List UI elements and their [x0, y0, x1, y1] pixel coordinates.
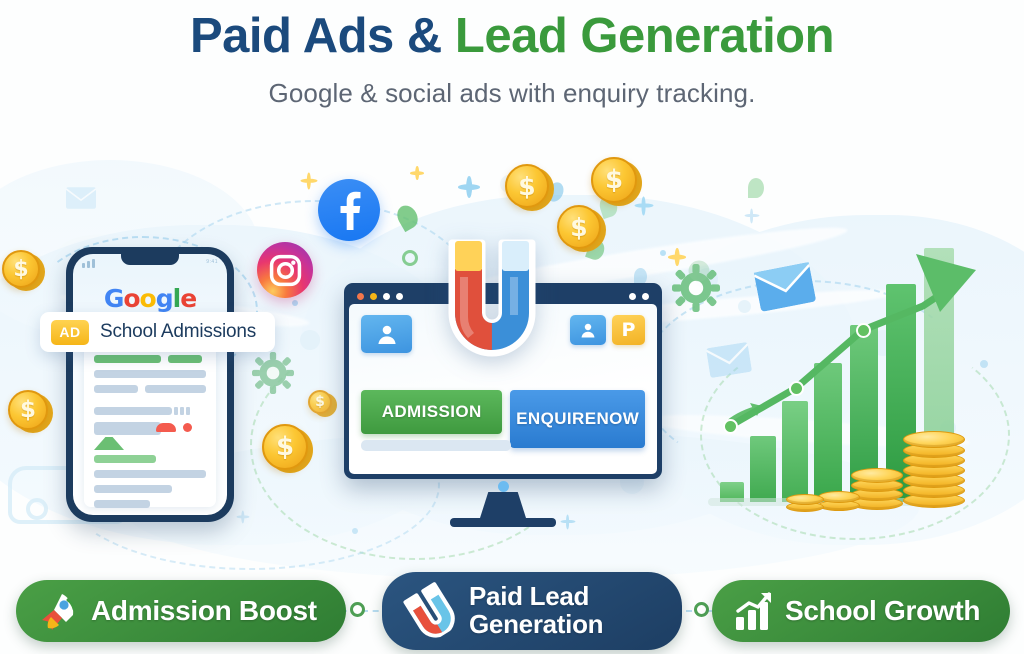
- monitor-led: [498, 481, 509, 492]
- pill-paid-lead-generation[interactable]: Paid Lead Generation: [382, 572, 682, 650]
- window-control-right-1[interactable]: [629, 293, 636, 300]
- title-part-accent: Lead Generation: [455, 9, 834, 63]
- google-logo: Google: [104, 284, 196, 313]
- gear-icon: [672, 264, 720, 312]
- ad-query-text: School Admissions: [100, 321, 256, 343]
- phone-screen: 9:41 Google: [73, 254, 227, 515]
- window-dot-maximize[interactable]: [383, 293, 390, 300]
- ad-badge: AD: [51, 320, 89, 345]
- chart-data-point: [723, 419, 738, 434]
- facebook-icon[interactable]: [318, 179, 380, 241]
- coin-icon: $: [8, 390, 48, 430]
- user-avatar-icon: [570, 315, 606, 345]
- signal-icon: [82, 259, 95, 268]
- monitor-base: [450, 518, 556, 527]
- page-subtitle: Google & social ads with enquiry trackin…: [0, 78, 1024, 109]
- window-dot-close[interactable]: [357, 293, 364, 300]
- coin-stack: [903, 430, 965, 508]
- pill-label-line2: Generation: [469, 609, 603, 639]
- ad-search-chip[interactable]: AD School Admissions: [40, 312, 275, 352]
- gear-icon: [252, 352, 294, 394]
- coin-icon: $: [505, 164, 549, 208]
- pill-label: Admission Boost: [91, 595, 317, 627]
- coin-stack: [786, 492, 824, 512]
- green-hill-shape: [94, 437, 124, 450]
- coin-icon: $: [262, 424, 308, 470]
- coin-icon: $: [591, 157, 637, 203]
- page-title: Paid Ads & Lead Generation: [0, 8, 1024, 64]
- enquire-label-line1: ENQUIRE: [516, 409, 596, 428]
- user-avatar-icon: [361, 315, 412, 353]
- phone-notch: [121, 254, 179, 265]
- profile-badge: P: [612, 315, 645, 345]
- pill-label: Paid Lead Generation: [469, 583, 603, 638]
- magnet-icon: [404, 584, 458, 638]
- gear-icon: [684, 256, 714, 286]
- chart-data-point: [856, 323, 871, 338]
- window-dot-extra[interactable]: [396, 293, 403, 300]
- window-control-right-2[interactable]: [642, 293, 649, 300]
- banner-root: Paid Ads & Lead Generation Google & soci…: [0, 0, 1024, 654]
- pill-connector: [694, 602, 709, 617]
- pill-admission-boost[interactable]: Admission Boost: [16, 580, 346, 642]
- enquire-label-line2: NOW: [596, 409, 639, 428]
- window-dot-minimize[interactable]: [370, 293, 377, 300]
- status-time: 9:41: [206, 259, 218, 265]
- envelope-icon: [66, 187, 96, 209]
- growth-chart-icon: [734, 591, 774, 631]
- pill-school-growth[interactable]: School Growth: [712, 580, 1010, 642]
- chart-data-point: [789, 381, 804, 396]
- instagram-icon[interactable]: [257, 242, 313, 298]
- pill-connector: [350, 602, 365, 617]
- title-part-primary: Paid Ads &: [190, 9, 455, 63]
- magnet-icon: [430, 229, 554, 357]
- admission-button[interactable]: ADMISSION: [361, 390, 502, 434]
- placeholder-bar: [361, 440, 511, 451]
- enquire-now-button[interactable]: ENQUIRE NOW: [510, 390, 645, 448]
- coin-icon: $: [308, 390, 332, 414]
- coin-icon: $: [557, 205, 601, 249]
- coin-icon: $: [2, 250, 40, 288]
- monitor-stand: [480, 492, 526, 518]
- coin-stack: [818, 483, 860, 511]
- pill-label-line1: Paid Lead: [469, 581, 589, 611]
- feature-pill-row: Admission Boost Paid Lead Generation: [0, 570, 1024, 638]
- search-results-card: [84, 344, 216, 507]
- pill-label: School Growth: [785, 595, 980, 627]
- rocket-icon: [38, 590, 80, 632]
- phone-mockup: 9:41 Google: [66, 247, 234, 522]
- header: Paid Ads & Lead Generation Google & soci…: [0, 8, 1024, 109]
